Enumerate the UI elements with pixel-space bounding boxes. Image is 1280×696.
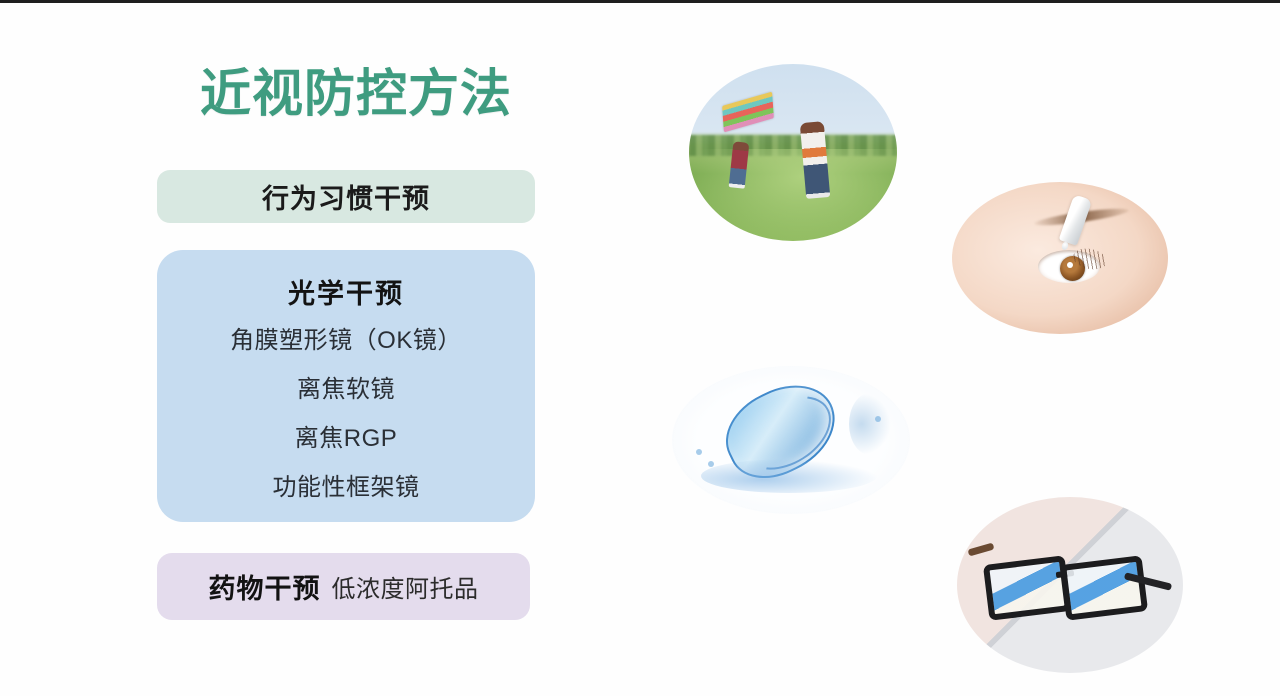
panel-medication-detail: 低浓度阿托品 <box>332 569 479 604</box>
list-item: 离焦软镜 <box>157 378 535 402</box>
slide-canvas: 近视防控方法 行为习惯干预 光学干预 角膜塑形镜（OK镜） 离焦软镜 离焦RGP… <box>0 0 1280 696</box>
children-flying-kites-photo <box>689 64 897 241</box>
panel-optical-intervention: 光学干预 角膜塑形镜（OK镜） 离焦软镜 离焦RGP 功能性框架镜 <box>157 250 535 522</box>
child-boy-shape <box>800 122 831 200</box>
glasses-far-temple <box>968 543 995 557</box>
optical-method-list: 角膜塑形镜（OK镜） 离焦软镜 离焦RGP 功能性框架镜 <box>157 329 535 500</box>
panel-behavior-heading: 行为习惯干预 <box>262 177 430 216</box>
panel-behavior-intervention: 行为习惯干预 <box>157 170 535 223</box>
list-item: 角膜塑形镜（OK镜） <box>157 329 535 353</box>
list-item: 功能性框架镜 <box>157 476 535 500</box>
panel-medication-heading: 药物干预 <box>209 567 321 606</box>
glasses-right-lens <box>1060 556 1148 622</box>
glasses-left-lens <box>983 556 1071 622</box>
eyeglasses-photo <box>957 497 1183 673</box>
page-title: 近视防控方法 <box>200 66 540 122</box>
grass-decoration <box>689 149 897 241</box>
panel-optical-heading: 光学干预 <box>157 272 535 311</box>
water-droplet <box>696 449 702 455</box>
water-splash-front <box>701 459 877 493</box>
panel-medication-intervention: 药物干预 低浓度阿托品 <box>157 553 530 620</box>
list-item: 离焦RGP <box>157 427 535 451</box>
contact-lens-photo <box>672 366 910 514</box>
water-droplet <box>708 461 714 467</box>
kite-shape <box>722 92 774 133</box>
water-splash-back <box>849 393 891 455</box>
eye-drop-photo <box>952 182 1168 334</box>
top-edge-bar <box>0 0 1280 3</box>
